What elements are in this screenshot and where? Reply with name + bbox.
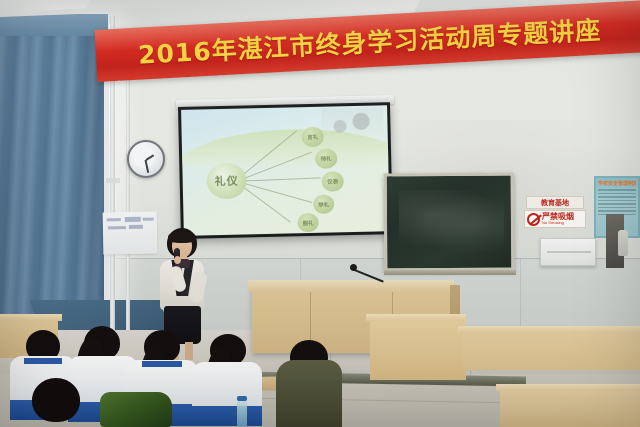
mindmap-edge (240, 185, 290, 223)
cabinet-seam (547, 251, 591, 253)
wooden-desk (500, 388, 640, 427)
education-base-sign: 教育基地 (526, 196, 584, 209)
no-smoking-sign: 严禁吸烟 No Smoking (524, 210, 586, 228)
wooden-desk (370, 318, 466, 380)
mindmap-branch-node-5: 服礼 (297, 213, 318, 232)
student-collar (24, 358, 62, 364)
window-curtain (0, 14, 104, 344)
education-base-sign-text: 教育基地 (541, 198, 569, 208)
mindmap-branch-node-3: 仪表 (322, 171, 344, 191)
notice-text-line (598, 193, 636, 195)
presentation-slide: 礼仪 言礼 待礼 仪表 举礼 服礼 (181, 105, 390, 236)
no-smoking-labels: 严禁吸烟 No Smoking (542, 213, 574, 225)
wall-tile-line (520, 258, 521, 336)
chalk-smudge (399, 190, 504, 253)
pipe-clip (106, 178, 120, 183)
paper-line (108, 226, 126, 229)
wall-clock (127, 140, 165, 178)
no-smoking-icon (527, 213, 540, 226)
bottle-cap (237, 396, 247, 401)
wall-pipe (126, 58, 130, 330)
water-bottle (237, 400, 247, 427)
backpack (100, 392, 172, 427)
slide-corner-photo (321, 107, 384, 138)
notice-text-line (598, 200, 636, 202)
audience-jacket (276, 360, 342, 427)
audience-student (186, 334, 266, 427)
notice-text-line (598, 210, 636, 212)
notice-board-title: 学校安全管理制度 (598, 180, 636, 187)
lecture-hall-photo: 2016年湛江市终身学习活动周专题讲座 礼仪 言礼 待礼 仪表 (0, 0, 640, 427)
wooden-desk-top (366, 314, 466, 321)
paper-line (143, 218, 154, 221)
mindmap-edge (243, 177, 321, 181)
mindmap-branch-node-4: 举礼 (313, 194, 334, 213)
paper-line (125, 217, 141, 222)
audience-student (16, 378, 102, 427)
student-uniform-stripe (192, 406, 262, 426)
wall-cabinet (540, 238, 596, 266)
wooden-desk-top (458, 326, 640, 334)
presenter-fringe (168, 231, 196, 243)
paper-line (107, 218, 121, 221)
notice-text-line (598, 203, 636, 205)
wooden-desk (462, 330, 640, 370)
microphone-head-icon (350, 264, 357, 271)
notice-text-line (598, 189, 636, 191)
notice-text-line (598, 196, 636, 198)
cylinder-object (618, 230, 628, 256)
student-head (32, 378, 80, 422)
wooden-desk-top (0, 314, 62, 321)
student-collar (142, 361, 182, 367)
presenter-hand (174, 256, 181, 264)
podium-desktop (248, 280, 454, 292)
curtain-header (0, 14, 108, 36)
paper-line (129, 225, 143, 229)
wooden-desk-top (496, 384, 640, 391)
notice-text-line (598, 207, 636, 209)
blackboard (384, 173, 515, 272)
chalk-tray (384, 270, 516, 275)
no-smoking-text-en: No Smoking (542, 221, 574, 225)
mindmap-center-node: 礼仪 (206, 162, 247, 199)
projection-screen: 礼仪 言礼 待礼 仪表 举礼 服礼 (178, 102, 393, 239)
